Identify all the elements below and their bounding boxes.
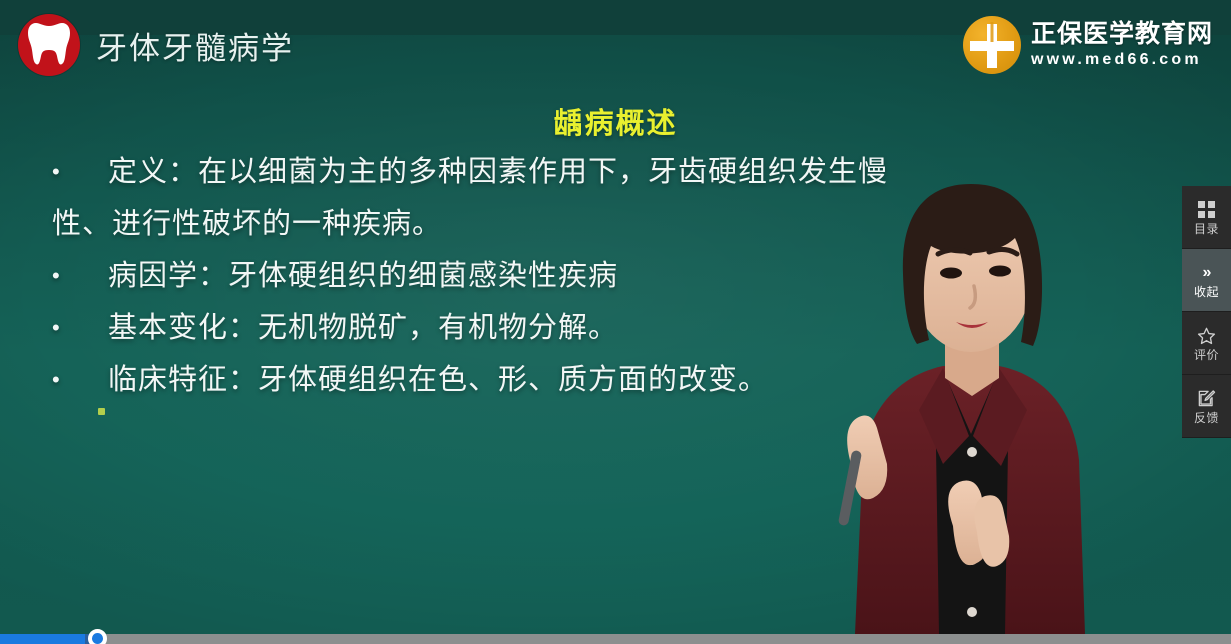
cross-circle-icon (963, 16, 1021, 74)
sidebar-item-feedback[interactable]: 反馈 (1182, 375, 1231, 438)
video-player: 第01讲 龋病概述、临床表现及分类、诊断及鉴别诊断 牙体牙髓病学 正保医学教育网… (0, 0, 1231, 644)
sidebar-item-catalog[interactable]: 目录 (1182, 186, 1231, 249)
chevron-double-right-icon: » (1203, 263, 1211, 283)
slide-bullet-list: •定义：在以细菌为主的多种因素作用下，牙齿硬组织发生慢性、进行性破坏的一种疾病。… (52, 146, 922, 406)
sidebar-item-label: 目录 (1194, 223, 1219, 235)
course-name: 牙体牙髓病学 (96, 23, 294, 68)
partner-url: www.med66.com (1031, 52, 1213, 68)
grid-icon (1198, 200, 1215, 220)
list-item: •病因学：牙体硬组织的细菌感染性疾病 (52, 250, 922, 302)
list-item: •定义：在以细菌为主的多种因素作用下，牙齿硬组织发生慢性、进行性破坏的一种疾病。 (52, 146, 922, 250)
list-item: •基本变化：无机物脱矿，有机物分解。 (52, 302, 922, 354)
bullet-marker: • (52, 250, 86, 302)
side-toolbar: 目录 » 收起 评价 反馈 (1182, 186, 1231, 438)
progress-bar-track[interactable] (0, 634, 1231, 644)
edit-pencil-icon (1197, 389, 1216, 409)
bullet-text: 病因学：牙体硬组织的细菌感染性疾病 (108, 260, 618, 292)
progress-handle[interactable] (88, 629, 107, 644)
partner-name: 正保医学教育网 (1031, 22, 1213, 47)
bullet-marker: • (52, 354, 86, 406)
bullet-marker: • (52, 302, 86, 354)
bullet-text: 基本变化：无机物脱矿，有机物分解。 (108, 312, 618, 344)
partner-logo: 正保医学教育网 www.med66.com (963, 16, 1213, 74)
sidebar-item-label: 评价 (1194, 349, 1219, 361)
bullet-text: 定义：在以细菌为主的多种因素作用下，牙齿硬组织发生慢性、进行性破坏的一种疾病。 (52, 156, 888, 240)
list-item: •临床特征：牙体硬组织在色、形、质方面的改变。 (52, 354, 922, 406)
sidebar-item-label: 收起 (1194, 286, 1219, 298)
stray-bullet-dot (98, 408, 105, 415)
tooth-icon (18, 14, 80, 76)
presenter-figure (793, 134, 1113, 634)
progress-played (0, 634, 97, 644)
bullet-text: 临床特征：牙体硬组织在色、形、质方面的改变。 (108, 364, 768, 396)
sidebar-item-collapse[interactable]: » 收起 (1182, 249, 1231, 312)
sidebar-item-label: 反馈 (1194, 412, 1219, 424)
bullet-marker: • (52, 146, 86, 198)
brand-block: 牙体牙髓病学 (18, 14, 294, 76)
sidebar-item-rating[interactable]: 评价 (1182, 312, 1231, 375)
star-icon (1197, 326, 1216, 346)
